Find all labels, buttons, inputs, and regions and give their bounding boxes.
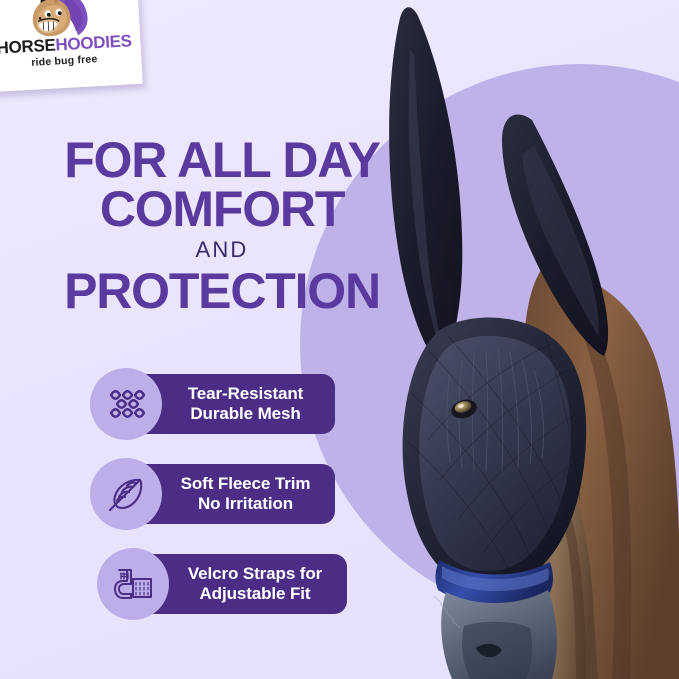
headline-line-2: COMFORT [36,185,408,234]
feature-line-1: Soft Fleece Trim [181,474,311,493]
headline-line-1: FOR ALL DAY [36,136,408,185]
feature-item-mesh[interactable]: Tear-Resistant Durable Mesh [0,368,400,440]
logo-word-horse: HORSE [0,36,56,58]
feature-item-velcro[interactable]: Velcro Straps for Adjustable Fit [0,548,400,620]
feature-line-1: Tear-Resistant [188,384,303,403]
mesh-lattice-icon [90,368,162,440]
feature-line-1: Velcro Straps for [188,564,322,583]
product-advertisement: HORSEHOODIES ride bug free FOR ALL DAY C… [0,0,679,679]
headline: FOR ALL DAY COMFORT AND PROTECTION [36,136,408,316]
feature-list: Tear-Resistant Durable Mesh [0,368,400,638]
headline-connector: AND [36,233,408,267]
feature-line-2: Durable Mesh [190,404,300,423]
feather-icon [90,458,162,530]
feature-item-fleece[interactable]: Soft Fleece Trim No Irritation [0,458,400,530]
velcro-strap-icon [97,548,169,620]
headline-line-3: PROTECTION [36,267,408,316]
brand-logo-card[interactable]: HORSEHOODIES ride bug free [0,0,143,92]
feature-line-2: No Irritation [198,494,293,513]
feature-line-2: Adjustable Fit [200,584,311,603]
